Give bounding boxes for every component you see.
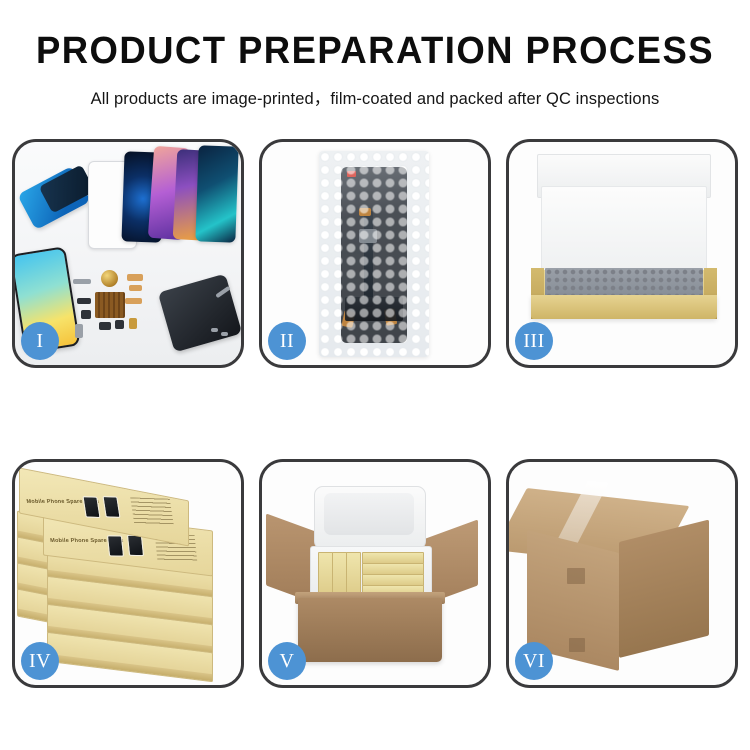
flex-cable-part	[125, 298, 142, 304]
page-subtitle: All products are image-printed，film-coat…	[0, 85, 750, 109]
header: PRODUCT PREPARATION PROCESS All products…	[0, 0, 750, 109]
screw-part	[221, 332, 228, 336]
process-step-card-2[interactable]: II	[259, 139, 491, 368]
step-badge-6: VI	[515, 642, 553, 680]
phone-thumbnail	[107, 535, 124, 556]
carton-right-face	[619, 520, 709, 658]
process-step-card-6[interactable]: VI	[506, 459, 738, 688]
connector-pad	[359, 229, 377, 243]
label-sticker	[347, 171, 356, 177]
connector-part	[129, 318, 137, 329]
process-step-card-5[interactable]: V	[259, 459, 491, 688]
step-badge-4: IV	[21, 642, 59, 680]
small-part	[73, 279, 91, 284]
bubble-wrap-sleeve	[319, 151, 429, 357]
battery-part	[75, 324, 83, 338]
carton-tab	[569, 638, 585, 652]
grey-foam-padding	[545, 268, 703, 298]
flex-cable	[364, 211, 373, 307]
box-front-panel	[531, 295, 717, 319]
connector-tape	[359, 208, 371, 216]
foam-lid-inner	[324, 493, 414, 535]
camera-part	[99, 322, 111, 330]
phone-thumbnail	[102, 496, 120, 518]
phone-thumbnail	[127, 535, 144, 556]
infographic-page: PRODUCT PREPARATION PROCESS All products…	[0, 0, 750, 750]
carton-front	[298, 598, 442, 662]
small-part	[77, 298, 91, 304]
small-part	[115, 320, 124, 329]
screw-part	[211, 328, 218, 332]
process-step-card-1[interactable]: I	[12, 139, 244, 368]
process-step-card-4[interactable]: Mobile Phone Spare Parts Mobile Phone Sp…	[12, 459, 244, 688]
carton-tab	[567, 568, 585, 584]
white-foam-sheet	[541, 186, 707, 278]
teal-phone	[195, 145, 238, 242]
flex-cable-part	[129, 285, 142, 291]
small-part	[81, 310, 91, 319]
driver-board	[345, 297, 403, 321]
step-badge-5: V	[268, 642, 306, 680]
process-step-card-3[interactable]: III	[506, 139, 738, 368]
process-grid: I II	[12, 139, 738, 688]
flex-cable-part	[127, 274, 143, 281]
step-badge-1: I	[21, 322, 59, 360]
speaker-part	[101, 270, 118, 287]
step-badge-3: III	[515, 322, 553, 360]
logic-board-part	[95, 292, 125, 318]
spec-lines	[130, 497, 174, 525]
step-badge-2: II	[268, 322, 306, 360]
page-title: PRODUCT PREPARATION PROCESS	[15, 32, 735, 70]
phone-thumbnail	[82, 496, 100, 518]
